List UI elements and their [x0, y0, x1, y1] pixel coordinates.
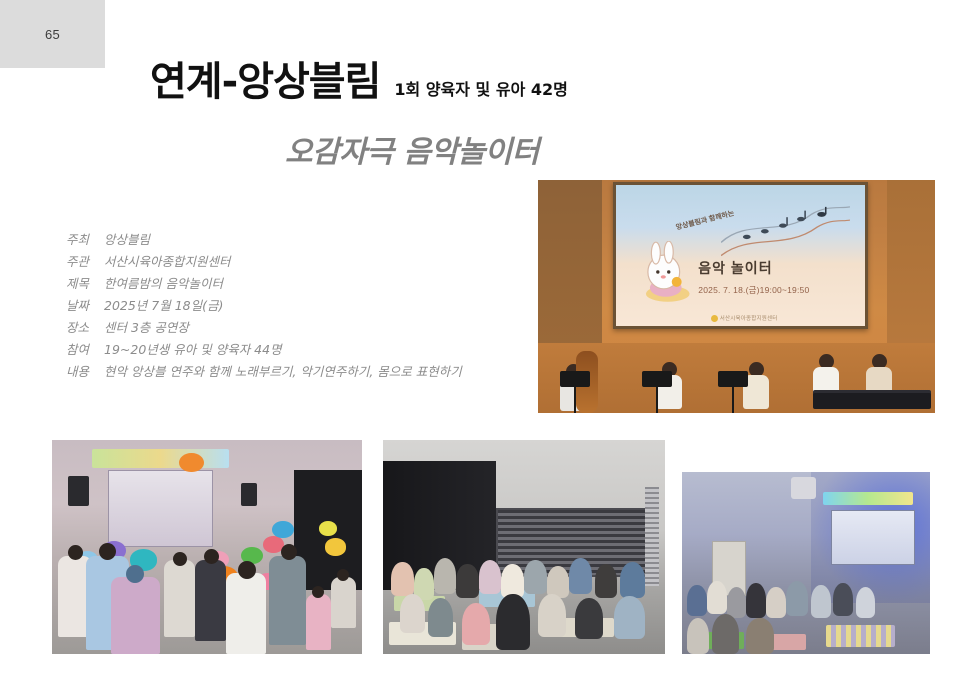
music-stand-icon [560, 371, 590, 413]
info-label: 제목 [66, 273, 104, 292]
participant-figure [111, 577, 161, 654]
participant-head [99, 543, 116, 560]
music-stand-icon [718, 371, 748, 413]
screen-date: 2025. 7. 18.(금)19:00~19:50 [698, 284, 852, 296]
participant-figure [456, 564, 479, 598]
info-label: 주관 [66, 251, 104, 270]
session-count-note: 1회 양육자 및 유아 42명 [394, 82, 567, 102]
participant-figure [569, 558, 592, 594]
info-row: 제목 한여름밤의 음악놀이터 [66, 273, 536, 295]
participant-figure [727, 587, 747, 618]
photo-seated-families [383, 440, 665, 654]
info-label: 날짜 [66, 295, 104, 314]
participant-figure [164, 560, 195, 637]
info-row: 날짜 2025년 7월 18일(금) [66, 295, 536, 317]
info-value: 19~20년생 유아 및 양육자 44명 [104, 339, 282, 358]
page-number-label: 65 [45, 27, 60, 42]
info-label: 내용 [66, 361, 104, 380]
music-stand-icon [642, 371, 672, 413]
info-label: 장소 [66, 317, 104, 336]
page-title: 연계-앙상블림 [150, 62, 380, 102]
participant-figure [428, 598, 453, 637]
balloon [325, 538, 347, 555]
participant-figure [687, 585, 707, 616]
participant-figure [434, 558, 457, 594]
participant-head [204, 549, 219, 564]
slide-root: 65 연계-앙상블림 1회 양육자 및 유아 42명 오감자극 음악놀이터 주최… [0, 0, 971, 688]
participant-figure [496, 594, 530, 650]
info-label: 주최 [66, 229, 104, 248]
participant-head [238, 561, 256, 579]
lighting-truss [645, 487, 659, 585]
balloon [272, 521, 294, 538]
participant-figure [786, 581, 808, 616]
info-value: 현악 앙상블 연주와 함께 노래부르기, 악기연주하기, 몸으로 표현하기 [104, 361, 462, 380]
page-number-chip: 65 [0, 0, 105, 68]
info-value: 센터 3층 공연장 [104, 317, 189, 336]
participant-figure [856, 587, 876, 618]
participant-figure [707, 581, 727, 614]
program-info-list: 주최 앙상블림 주관 서산시육아종합지원센터 제목 한여름밤의 음악놀이터 날짜… [66, 229, 536, 383]
screen-center-logo: 서산시육아종합지원센터 [711, 314, 820, 322]
info-row: 주최 앙상블림 [66, 229, 536, 251]
speaker-icon [241, 483, 257, 507]
participant-figure [766, 587, 786, 618]
participant-figure [524, 560, 547, 594]
participant-figure [538, 594, 566, 637]
participant-figure [226, 573, 266, 654]
screen-heading: 음악 놀이터 [698, 258, 847, 278]
participant-figure [614, 596, 645, 639]
page-subtitle: 오감자극 음악놀이터 [285, 136, 539, 169]
info-value: 2025년 7월 18일(금) [104, 295, 223, 314]
info-row: 주관 서산시육아종합지원센터 [66, 251, 536, 273]
info-value: 앙상블림 [104, 229, 150, 248]
participant-figure [391, 562, 414, 596]
participant-figure [811, 585, 831, 618]
participant-figure [595, 564, 618, 598]
participant-figure [620, 562, 645, 598]
info-row: 참여 19~20년생 유아 및 양육자 44명 [66, 339, 536, 361]
logo-dot-icon [711, 315, 718, 322]
event-banner [823, 492, 912, 505]
participant-figure [746, 618, 773, 654]
rabbit-mascot-icon [636, 241, 696, 303]
participant-figure [712, 614, 739, 654]
info-value: 한여름밤의 음악놀이터 [104, 273, 223, 292]
keyboard-instrument-icon [813, 393, 931, 409]
participant-figure [746, 583, 766, 618]
participant-figure [462, 603, 490, 646]
info-label: 참여 [66, 339, 104, 358]
projection-screen [108, 470, 213, 547]
picnic-mat [826, 625, 895, 647]
event-banner [92, 449, 228, 468]
projection-screen [831, 510, 915, 565]
participant-figure [331, 577, 356, 628]
participant-figure [479, 560, 502, 594]
balloon [179, 453, 204, 472]
photo-balloon-play [52, 440, 362, 654]
participant-figure [269, 556, 306, 646]
participant-head [68, 545, 83, 560]
ceiling-projector-icon [791, 477, 816, 499]
participant-figure [195, 560, 226, 641]
participant-figure [306, 594, 331, 650]
photo-stage-ensemble: 앙상블림과 함께하는 음악 놀이터 2025. 7. 18.(금)19:00~1… [538, 180, 935, 413]
info-row: 장소 센터 3층 공연장 [66, 317, 536, 339]
info-row: 내용 현악 앙상블 연주와 함께 노래부르기, 악기연주하기, 몸으로 표현하기 [66, 361, 536, 383]
title-row: 연계-앙상블림 1회 양육자 및 유아 42명 [150, 62, 568, 102]
participant-figure [400, 594, 425, 633]
info-value: 서산시육아종합지원센터 [104, 251, 231, 270]
speaker-icon [68, 476, 90, 506]
participant-figure [575, 598, 603, 639]
participant-figure [833, 583, 853, 616]
participant-figure [687, 618, 709, 654]
projection-screen: 앙상블림과 함께하는 음악 놀이터 2025. 7. 18.(금)19:00~1… [613, 182, 867, 329]
photo-blue-lit-audience [682, 472, 930, 654]
screen-logo-text: 서산시육아종합지원센터 [720, 316, 778, 322]
